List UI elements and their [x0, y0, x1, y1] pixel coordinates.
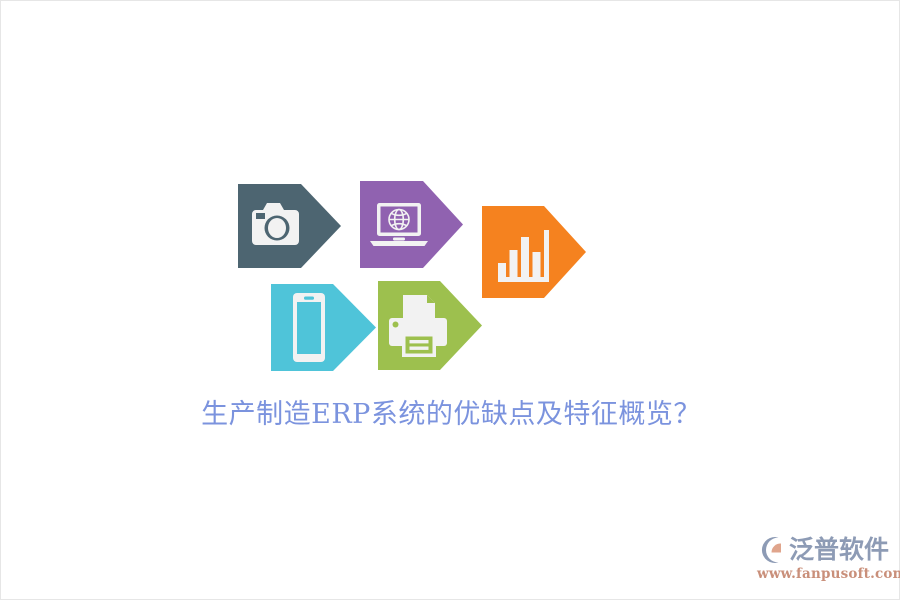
- fanpu-software-logo: 泛普软件 www.fanpusoft.com: [757, 533, 885, 587]
- screenshot-canvas: 生产制造ERP系统的优缺点及特征概览？ 泛普软件 www.fanpusoft.c…: [0, 0, 900, 600]
- chevron-badge-smartphone[interactable]: [271, 284, 376, 371]
- page-title: 生产制造ERP系统的优缺点及特征概览？: [1, 397, 900, 433]
- chevron-badge-printer[interactable]: [378, 281, 482, 370]
- chevron-badge-bar-chart[interactable]: [482, 206, 586, 298]
- logo-row: 泛普软件: [757, 533, 885, 567]
- logo-website-url: www.fanpusoft.com: [757, 566, 885, 582]
- logo-wordmark: 泛普软件: [789, 535, 889, 565]
- chevron-badge-camera[interactable]: [238, 184, 341, 268]
- smartphone-icon: [293, 293, 325, 362]
- fanpu-logo-mark-icon: [757, 535, 787, 565]
- chevron-badge-laptop-globe[interactable]: [360, 181, 463, 268]
